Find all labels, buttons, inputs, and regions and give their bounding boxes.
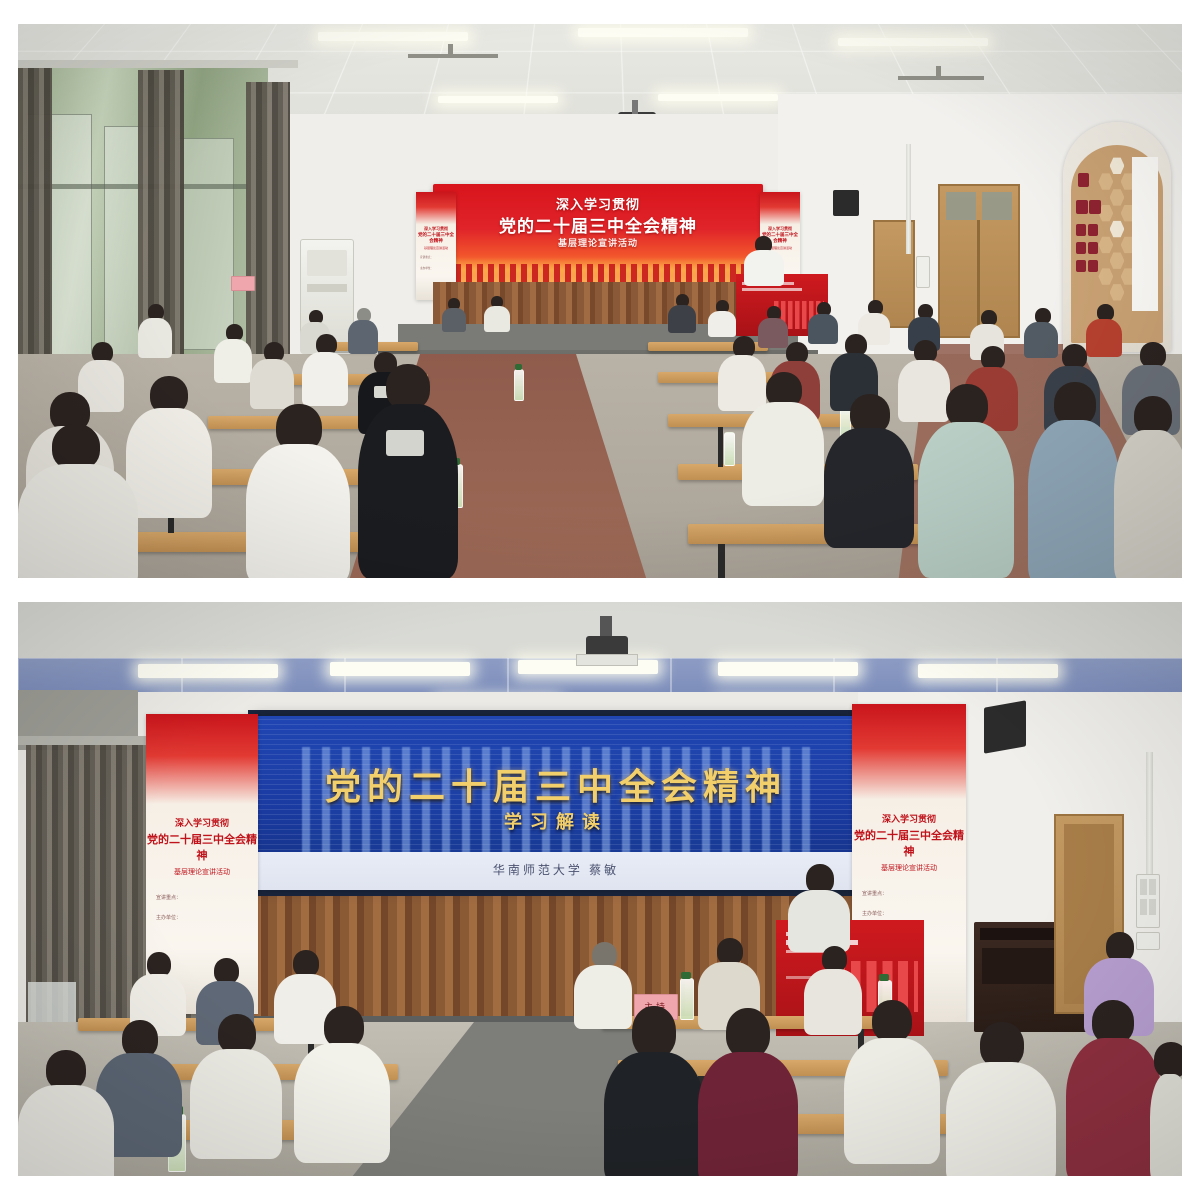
desk-leg	[718, 544, 725, 578]
wall-wood-panel-bottom	[244, 892, 864, 1022]
desk-leg	[718, 427, 723, 467]
person-body	[1028, 420, 1120, 578]
ceiling-light	[658, 94, 778, 101]
side-banner-title-1: 深入学习贯彻	[146, 816, 258, 829]
ceiling-light	[438, 96, 558, 103]
audience-person	[668, 294, 696, 330]
audience-person	[250, 342, 294, 406]
audience-person	[698, 1008, 798, 1176]
side-banner-subtitle: 基层理论宣讲活动	[416, 246, 456, 250]
banner-skyline-graphic	[433, 264, 763, 284]
person-body	[918, 422, 1014, 578]
person-body	[708, 311, 736, 337]
person-body	[946, 1062, 1056, 1176]
board-chip	[1076, 260, 1086, 272]
switch-key	[1140, 879, 1147, 895]
person-body	[18, 464, 138, 578]
ceiling-fan-icon	[898, 76, 984, 80]
hex-tile	[1098, 173, 1113, 191]
person-body	[442, 308, 466, 332]
banner-line1: 深入学习贯彻	[433, 194, 763, 213]
person-body	[190, 1049, 282, 1159]
person-body	[604, 1052, 704, 1176]
audience-person	[18, 424, 138, 578]
ceiling-fan-icon	[408, 54, 498, 58]
screen-subtitle: 学习解读	[254, 808, 858, 834]
person-head	[293, 950, 319, 977]
ceiling-light	[918, 664, 1058, 678]
person-body	[698, 1052, 798, 1176]
side-banner-subtitle: 基层理论宣讲活动	[146, 867, 258, 877]
board-chip	[1089, 200, 1101, 214]
board-chip	[1078, 173, 1089, 187]
audience-person	[348, 308, 378, 352]
ceiling-fan-rod	[936, 66, 941, 78]
hex-tile	[1110, 157, 1125, 175]
side-banner-title-2: 党的二十届三中全会精神	[852, 827, 966, 859]
audience-person	[214, 324, 252, 380]
person-body	[250, 359, 294, 409]
side-banner-body-label-2: 主办单位：	[156, 913, 248, 923]
door-glass-pane	[946, 192, 976, 220]
audience-person	[484, 296, 510, 328]
water-bottle	[724, 432, 735, 466]
switch-key	[1149, 899, 1156, 915]
photo-sheet: 深入学习贯彻 党的二十届三中全会精神 基层理论宣讲活动 深入学习贯彻 党的二十届…	[0, 0, 1200, 1200]
person-head	[218, 1014, 256, 1054]
hex-tile	[1098, 236, 1113, 254]
person-head	[1154, 1042, 1182, 1078]
person-body	[18, 1085, 114, 1176]
bottle-cap	[515, 364, 522, 370]
wall-speaker-icon	[984, 700, 1026, 753]
screen-image: 党的二十届三中全会精神 学习解读 华南师范大学 蔡敏	[254, 716, 858, 890]
hex-tile	[1110, 283, 1125, 301]
board-chip	[1088, 260, 1098, 272]
ceiling-light	[330, 662, 470, 676]
hex-tile	[1110, 220, 1125, 238]
audience-person	[358, 364, 458, 574]
table-name-card	[231, 276, 255, 291]
wall-switch-panel	[1136, 874, 1160, 928]
screen-presenter-line: 华南师范大学 蔡敏	[254, 861, 858, 878]
person-body	[294, 1043, 390, 1163]
ac-panel	[307, 284, 347, 292]
curtain	[246, 82, 290, 372]
stage-banner-top: 深入学习贯彻 党的二十届三中全会精神 基层理论宣讲活动	[433, 184, 763, 284]
side-banner-body-label-1: 宣讲重点：	[420, 256, 452, 261]
person-body	[824, 428, 914, 548]
person-body	[788, 890, 850, 952]
projector-rod	[600, 616, 612, 638]
curtain	[18, 64, 52, 364]
person-head	[324, 1006, 364, 1048]
bottle-cap	[681, 972, 691, 979]
person-body	[138, 318, 172, 358]
lectern-text-line	[742, 288, 802, 291]
audience-person	[1028, 382, 1120, 578]
person-body	[348, 320, 378, 354]
audience-person	[604, 1006, 704, 1176]
speaker-person	[744, 236, 784, 284]
door-glass-pane	[982, 192, 1012, 220]
projector-plate	[576, 654, 638, 666]
side-banner-body-label-2: 主办单位：	[862, 909, 956, 919]
person-body	[668, 305, 696, 333]
board-chip	[1088, 224, 1098, 236]
hex-tile	[1098, 268, 1113, 286]
person-body	[1150, 1074, 1182, 1176]
person-body	[844, 1038, 940, 1164]
side-banner-title-2: 党的二十届三中全会精神	[146, 831, 258, 863]
audience-person	[918, 384, 1014, 574]
wall-pipe	[906, 144, 911, 254]
water-bottle	[514, 369, 524, 401]
audience-person	[742, 372, 824, 502]
wall-speaker-icon	[833, 190, 859, 216]
presenter-person	[788, 864, 850, 944]
side-banner-subtitle: 基层理论宣讲活动	[852, 863, 966, 873]
person-head	[872, 1000, 912, 1042]
shirt-print	[386, 430, 424, 456]
audience-person	[946, 1022, 1056, 1176]
person-body	[246, 444, 350, 578]
person-body	[214, 339, 252, 383]
side-banner-body-label-1: 宣讲重点：	[862, 889, 956, 899]
person-head	[632, 1006, 676, 1058]
person-body	[302, 352, 348, 406]
window-mullion	[18, 184, 248, 189]
person-head	[46, 1050, 86, 1090]
audience-person	[294, 1006, 390, 1156]
ac-vent	[307, 250, 347, 276]
audience-person	[1066, 1000, 1162, 1176]
audience-person	[246, 404, 350, 578]
bottle-cap	[879, 974, 889, 981]
side-banner-body-label-1: 宣讲重点：	[156, 893, 248, 903]
audience-person	[138, 304, 172, 354]
hex-tile	[1110, 189, 1125, 207]
switch-key	[1149, 879, 1156, 895]
person-head	[717, 938, 743, 965]
board-text-column	[1132, 157, 1158, 311]
person-body	[744, 250, 784, 286]
person-body	[742, 402, 824, 506]
person-body	[1066, 1038, 1162, 1176]
screen-title: 党的二十届三中全会精神	[254, 758, 858, 810]
person-body	[484, 306, 510, 332]
board-chip	[1076, 242, 1086, 254]
ceiling-light	[318, 32, 468, 41]
projector-mount	[632, 100, 638, 114]
audience-person	[126, 376, 212, 512]
side-banner-title-2: 党的二十届三中全会精神	[416, 232, 456, 244]
audience-person	[190, 1014, 282, 1152]
ceiling-light	[578, 28, 748, 37]
audience-person	[18, 1050, 114, 1176]
banner-line2: 党的二十届三中全会精神	[433, 212, 763, 237]
board-chip	[1088, 242, 1098, 254]
person-head	[726, 1008, 770, 1058]
curtain-rail	[18, 60, 298, 68]
audience-person	[302, 334, 348, 404]
hex-tile	[1110, 252, 1125, 270]
audience-person	[1150, 1042, 1182, 1176]
side-banner-title-1: 深入学习贯彻	[852, 812, 966, 825]
board-chip	[1076, 200, 1088, 214]
side-banner-body-label-2: 主办单位：	[420, 267, 452, 272]
board-chip	[1076, 224, 1086, 236]
audience-person	[824, 394, 914, 544]
projection-screen: 党的二十届三中全会精神 学习解读 华南师范大学 蔡敏	[254, 716, 858, 890]
photo-top: 深入学习贯彻 党的二十届三中全会精神 基层理论宣讲活动 深入学习贯彻 党的二十届…	[18, 24, 1182, 578]
ceiling-fan-rod	[448, 44, 453, 58]
photo-bottom: 党的二十届三中全会精神 学习解读 华南师范大学 蔡敏 深入学习贯彻 党的二十届三…	[18, 602, 1182, 1176]
switch-key	[1140, 899, 1147, 915]
person-body	[126, 408, 212, 518]
wall-switch-panel	[916, 256, 930, 288]
audience-person	[1114, 396, 1182, 578]
ceiling-light	[138, 664, 278, 678]
banner-line3: 基层理论宣讲活动	[433, 236, 763, 249]
person-body	[1114, 430, 1182, 578]
audience-person	[442, 298, 466, 328]
window-pane	[178, 138, 234, 350]
audience-person	[708, 300, 736, 334]
ceiling-light	[718, 662, 858, 676]
ceiling-light	[838, 38, 988, 46]
audience-person	[844, 1000, 940, 1160]
